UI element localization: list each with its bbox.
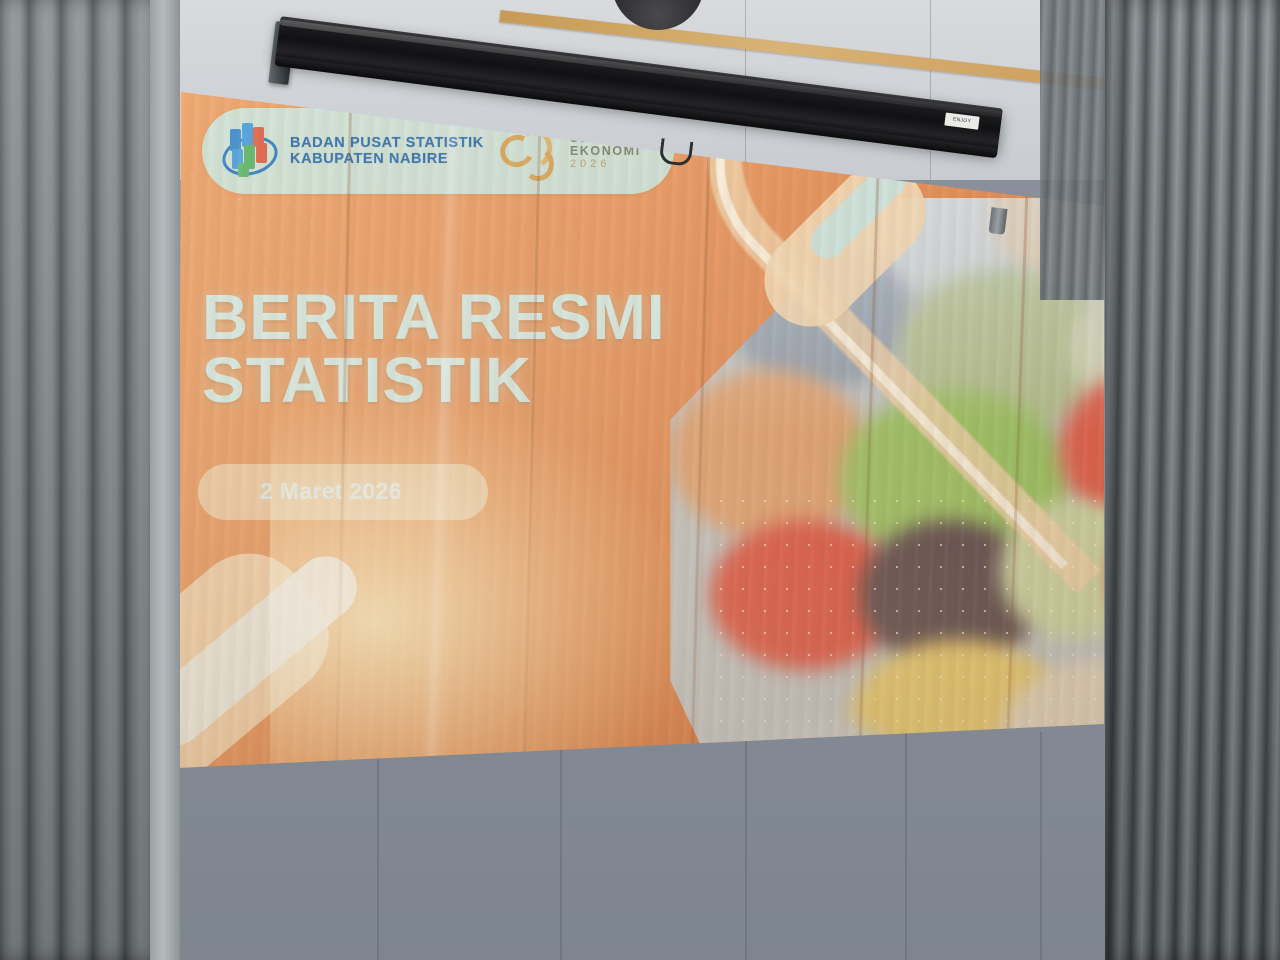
title-line1: BERITA RESMI xyxy=(202,281,666,353)
left-wall-slats xyxy=(0,0,170,960)
bps-logo xyxy=(218,123,280,179)
right-wall-slats-far xyxy=(1040,0,1110,300)
bps-line2: KABUPATEN NABIRE xyxy=(290,151,484,167)
right-wall-slats xyxy=(1105,0,1280,960)
screen-end-bracket xyxy=(988,207,1007,235)
wall-panel-seam xyxy=(1040,732,1042,960)
bps-line1: BADAN PUSAT STATISTIK xyxy=(290,135,484,151)
bps-title: BADAN PUSAT STATISTIK KABUPATEN NABIRE xyxy=(290,135,484,167)
case-brand-label: ENJOY xyxy=(944,112,979,129)
sensus-year: 2026 xyxy=(570,159,641,171)
wall-panel-seam xyxy=(745,718,747,960)
wall-panel-seam xyxy=(905,726,907,960)
room-photo: BADAN PUSAT STATISTIK KABUPATEN NABIRE S… xyxy=(0,0,1280,960)
left-wall-edge xyxy=(150,0,180,960)
